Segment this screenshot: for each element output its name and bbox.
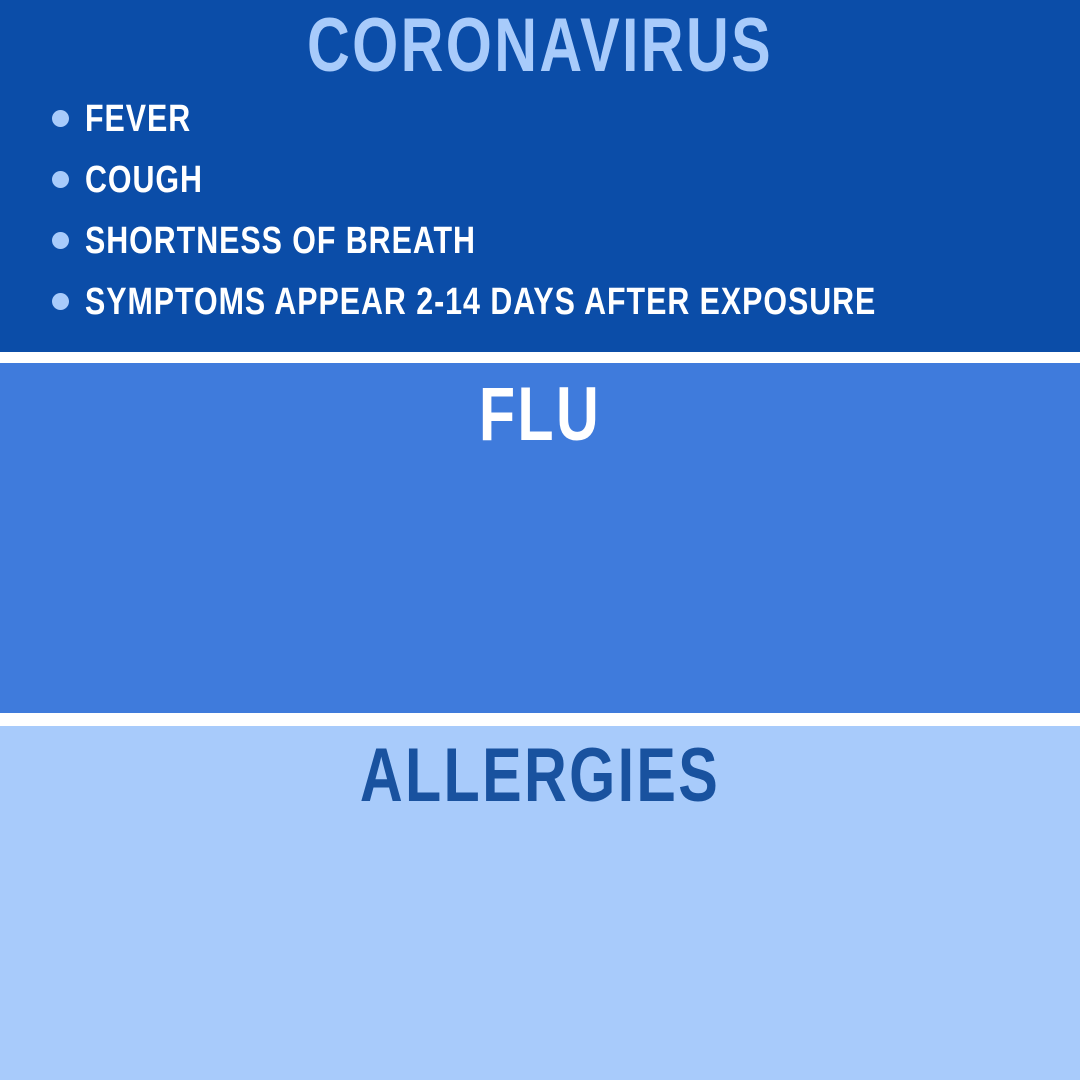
bullet-dot-icon — [52, 232, 69, 249]
allergies-title: ALLERGIES — [119, 726, 961, 814]
coronavirus-symptom-list: FEVER COUGH SHORTNESS OF BREATH SYMPTOMS… — [52, 88, 1074, 332]
list-item-label: SYMPTOMS APPEAR 2-14 DAYS AFTER EXPOSURE — [85, 283, 876, 321]
section-allergies: ALLERGIES SNEEZING ITCHY, RUNNY OR BLOCK… — [0, 726, 1080, 1080]
coronavirus-title: CORONAVIRUS — [119, 0, 961, 84]
list-item-label: FEVER — [85, 100, 191, 138]
section-divider — [0, 352, 1080, 363]
list-item-label: COUGH — [85, 161, 203, 199]
bullet-dot-icon — [52, 293, 69, 310]
bullet-dot-icon — [52, 110, 69, 127]
section-divider — [0, 713, 1080, 726]
section-coronavirus: CORONAVIRUS FEVER COUGH SHORTNESS OF BRE… — [0, 0, 1080, 352]
flu-title: FLU — [119, 363, 961, 453]
bullet-dot-icon — [52, 171, 69, 188]
list-item: SHORTNESS OF BREATH — [52, 210, 1074, 271]
list-item-label: SHORTNESS OF BREATH — [85, 222, 476, 260]
list-item: FEVER — [52, 88, 1074, 149]
section-flu: FLU FEVER COUGH SORE THROAT HEADACHES — [0, 363, 1080, 713]
list-item: COUGH — [52, 149, 1074, 210]
list-item: SYMPTOMS APPEAR 2-14 DAYS AFTER EXPOSURE — [52, 271, 1074, 332]
symptom-comparison-infographic: CORONAVIRUS FEVER COUGH SHORTNESS OF BRE… — [0, 0, 1080, 1080]
